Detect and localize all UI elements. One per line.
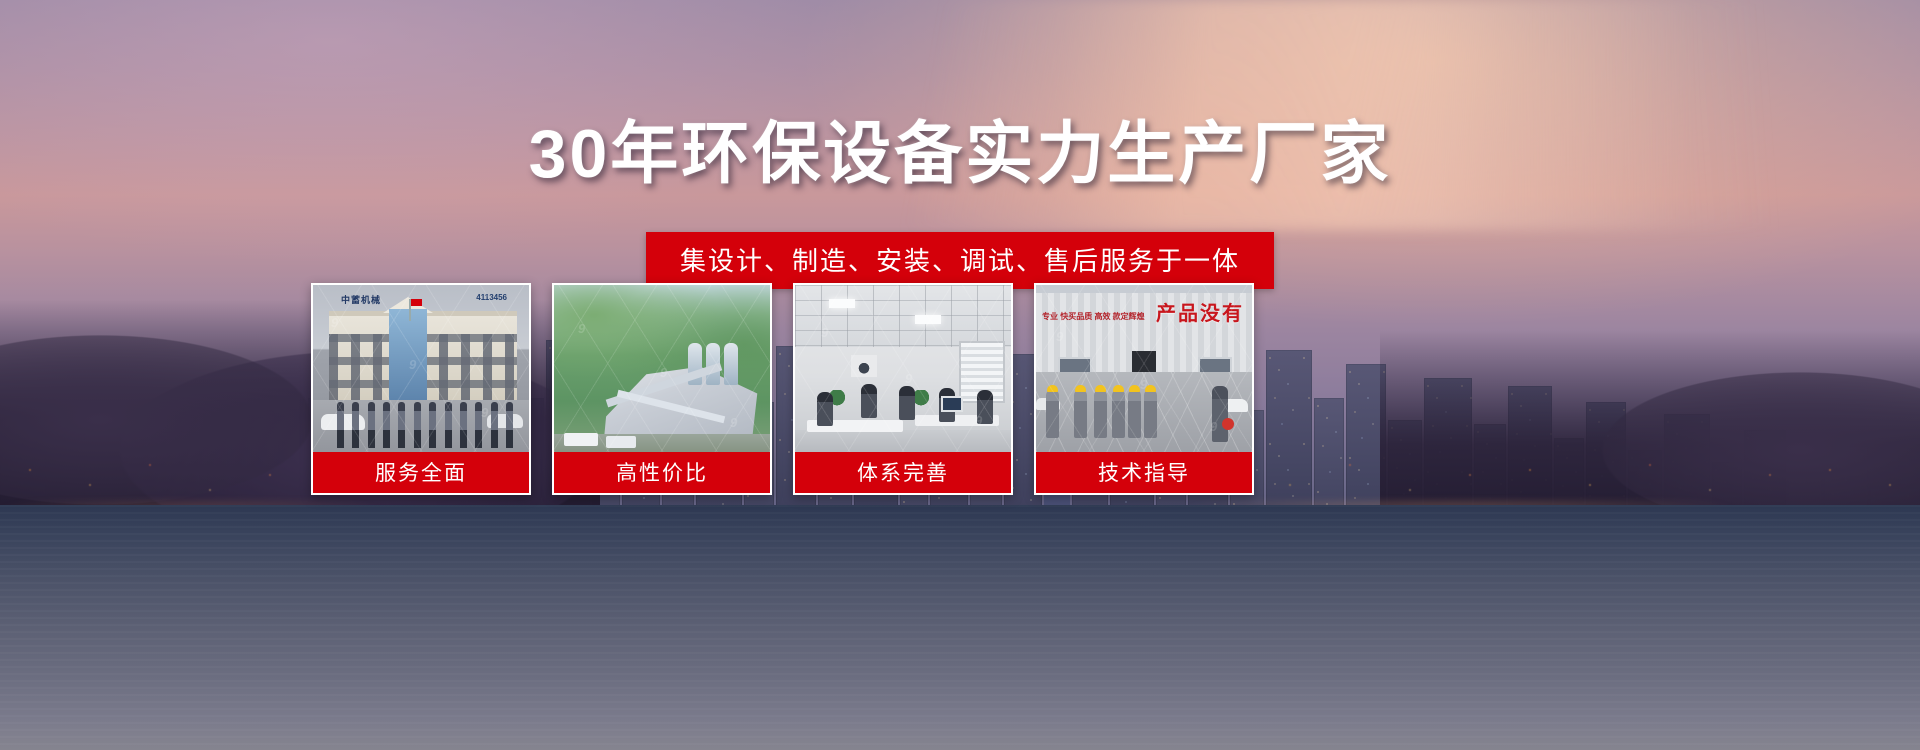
card-caption: 体系完善 [795, 452, 1011, 493]
river-water [0, 505, 1920, 750]
feature-card[interactable]: 中蓄机械 4113456 9 9 9 服务全面 [311, 283, 531, 495]
card-photo-plant: 9 9 9 [554, 285, 770, 452]
card-caption: 高性价比 [554, 452, 770, 493]
banner-subtitle-wrapper: 集设计、制造、安装、调试、售后服务于一体 [0, 232, 1920, 289]
feature-card[interactable]: 9 9 9 体系完善 [793, 283, 1013, 495]
hero-banner: 30年环保设备实力生产厂家 集设计、制造、安装、调试、售后服务于一体 中蓄机械 … [0, 0, 1920, 750]
factory-wall-slogan-small: 专业 快买品质 高效 款定辉煌 [1042, 311, 1145, 322]
card-photo-office: 9 9 9 [795, 285, 1011, 452]
building-sign-text: 中蓄机械 [341, 293, 381, 306]
feature-card[interactable]: 产品没有 专业 快买品质 高效 款定辉煌 9 9 9 技术指导 [1034, 283, 1254, 495]
card-caption: 技术指导 [1036, 452, 1252, 493]
card-photo-training: 产品没有 专业 快买品质 高效 款定辉煌 9 9 9 [1036, 285, 1252, 452]
card-caption: 服务全面 [313, 452, 529, 493]
banner-headline: 30年环保设备实力生产厂家 [0, 98, 1920, 197]
banner-subtitle: 集设计、制造、安装、调试、售后服务于一体 [646, 232, 1274, 289]
feature-card-list: 中蓄机械 4113456 9 9 9 服务全面 [311, 283, 1259, 495]
feature-card[interactable]: 9 9 9 高性价比 [552, 283, 772, 495]
factory-wall-slogan: 产品没有 [1156, 297, 1244, 326]
card-photo-service: 中蓄机械 4113456 9 9 9 [313, 285, 529, 452]
building-phone-text: 4113456 [476, 293, 507, 302]
